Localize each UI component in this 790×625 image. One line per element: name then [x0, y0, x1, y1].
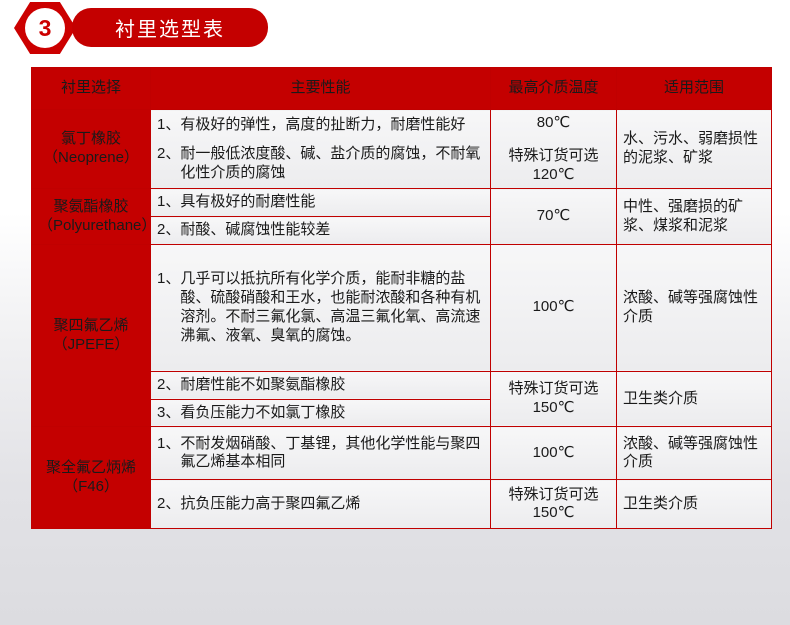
table-row: 聚氨酯橡胶 （Polyurethane） 1、 具有极好的耐磨性能 70℃ 中性… — [32, 189, 772, 217]
badge-number: 3 — [39, 17, 52, 40]
column-header-lining-choice: 衬里选择 — [32, 68, 151, 110]
performance-number: 3、 — [157, 404, 180, 423]
temperature-f46-2: 特殊订货可选 150℃ — [491, 480, 617, 529]
lining-name-polyurethane: 聚氨酯橡胶 （Polyurethane） — [32, 189, 151, 245]
temperature-polyurethane: 70℃ — [491, 189, 617, 245]
temperature-special-order-label: 特殊订货可选 — [497, 380, 610, 399]
lining-name-en: （JPEFE） — [38, 336, 144, 355]
performance-f46-2: 2、 抗负压能力高于聚四氟乙烯 — [151, 480, 491, 529]
performance-jpefe-2: 2、 耐磨性能不如聚氨酯橡胶 — [151, 371, 491, 399]
performance-jpefe-1: 1、 几乎可以抵抗所有化学介质，能耐非糖的盐酸、硫酸硝酸和王水，也能耐浓酸和各种… — [151, 244, 491, 371]
range-jpefe-1: 浓酸、碱等强腐蚀性介质 — [617, 244, 772, 371]
range-f46-1: 浓酸、碱等强腐蚀性介质 — [617, 427, 772, 480]
performance-text: 具有极好的耐磨性能 — [180, 193, 484, 212]
temperature-neoprene: 80℃ 特殊订货可选 120℃ — [491, 110, 617, 189]
performance-number: 1、 — [157, 435, 180, 454]
lining-name-en: （Neoprene） — [38, 149, 144, 168]
performance-number: 2、 — [157, 221, 180, 240]
performance-text: 耐酸、碱腐蚀性能较差 — [180, 221, 484, 240]
lining-name-en: （Polyurethane） — [38, 217, 144, 236]
performance-text: 有极好的弹性，高度的扯断力，耐磨性能好 — [180, 116, 484, 135]
table-row: 氯丁橡胶 （Neoprene） 1、 有极好的弹性，高度的扯断力，耐磨性能好 2… — [32, 110, 772, 189]
temperature-special-order-value: 150℃ — [497, 504, 610, 523]
performance-text: 几乎可以抵抗所有化学介质，能耐非糖的盐酸、硫酸硝酸和王水，也能耐浓酸和各种有机溶… — [180, 270, 484, 345]
performance-number: 2、 — [157, 495, 180, 514]
range-jpefe-2: 卫生类介质 — [617, 371, 772, 427]
table-row: 聚四氟乙烯 （JPEFE） 1、 几乎可以抵抗所有化学介质，能耐非糖的盐酸、硫酸… — [32, 244, 772, 371]
lining-name-cn: 氯丁橡胶 — [61, 130, 121, 147]
lining-name-f46: 聚全氟乙炳烯 （F46） — [32, 427, 151, 529]
range-neoprene: 水、污水、弱磨损性的泥浆、矿浆 — [617, 110, 772, 189]
lining-name-neoprene: 氯丁橡胶 （Neoprene） — [32, 110, 151, 189]
lining-name-cn: 聚四氟乙烯 — [53, 317, 128, 334]
lining-name-cn: 聚氨酯橡胶 — [53, 198, 128, 215]
performance-neoprene: 1、 有极好的弹性，高度的扯断力，耐磨性能好 2、 耐一般低浓度酸、碱、盐介质的… — [151, 110, 491, 189]
temperature-value: 80℃ — [497, 114, 610, 133]
lining-name-jpefe: 聚四氟乙烯 （JPEFE） — [32, 244, 151, 427]
temperature-special-order: 特殊订货可选 120℃ — [497, 147, 610, 185]
temperature-f46-1: 100℃ — [491, 427, 617, 480]
table-header-row: 衬里选择 主要性能 最高介质温度 适用范围 — [32, 68, 772, 110]
range-polyurethane: 中性、强磨损的矿浆、煤浆和泥浆 — [617, 189, 772, 245]
range-f46-2: 卫生类介质 — [617, 480, 772, 529]
page-header: 3 衬里选型表 — [0, 0, 790, 58]
performance-text: 耐一般低浓度酸、碱、盐介质的腐蚀，不耐氧化性介质的腐蚀 — [180, 145, 484, 183]
performance-text: 看负压能力不如氯丁橡胶 — [180, 404, 484, 423]
performance-polyurethane-1: 1、 具有极好的耐磨性能 — [151, 189, 491, 217]
lining-name-en: （F46） — [38, 478, 144, 497]
performance-jpefe-3: 3、 看负压能力不如氯丁橡胶 — [151, 399, 491, 427]
performance-polyurethane-2: 2、 耐酸、碱腐蚀性能较差 — [151, 217, 491, 245]
temperature-special-order-value: 150℃ — [497, 399, 610, 418]
section-title-pill: 衬里选型表 — [72, 8, 268, 47]
performance-number: 2、 — [157, 145, 180, 164]
badge-circle: 3 — [25, 8, 65, 48]
performance-f46-1: 1、 不耐发烟硝酸、丁基锂，其他化学性能与聚四氟乙烯基本相同 — [151, 427, 491, 480]
performance-number: 1、 — [157, 270, 180, 289]
performance-number: 2、 — [157, 376, 180, 395]
performance-text: 抗负压能力高于聚四氟乙烯 — [180, 495, 484, 514]
lining-name-cn: 聚全氟乙炳烯 — [46, 459, 136, 476]
table-row: 聚全氟乙炳烯 （F46） 1、 不耐发烟硝酸、丁基锂，其他化学性能与聚四氟乙烯基… — [32, 427, 772, 480]
page-title: 衬里选型表 — [115, 13, 225, 42]
temperature-jpefe-1: 100℃ — [491, 244, 617, 371]
column-header-application-range: 适用范围 — [617, 68, 772, 110]
column-header-main-performance: 主要性能 — [151, 68, 491, 110]
performance-text: 不耐发烟硝酸、丁基锂，其他化学性能与聚四氟乙烯基本相同 — [180, 435, 484, 473]
temperature-jpefe-2: 特殊订货可选 150℃ — [491, 371, 617, 427]
performance-number: 1、 — [157, 116, 180, 135]
performance-text: 耐磨性能不如聚氨酯橡胶 — [180, 376, 484, 395]
column-header-max-temperature: 最高介质温度 — [491, 68, 617, 110]
section-number-badge: 3 — [14, 2, 76, 54]
lining-selection-table: 衬里选择 主要性能 最高介质温度 适用范围 氯丁橡胶 （Neoprene） 1、… — [31, 67, 772, 529]
temperature-special-order-label: 特殊订货可选 — [497, 486, 610, 505]
performance-number: 1、 — [157, 193, 180, 212]
